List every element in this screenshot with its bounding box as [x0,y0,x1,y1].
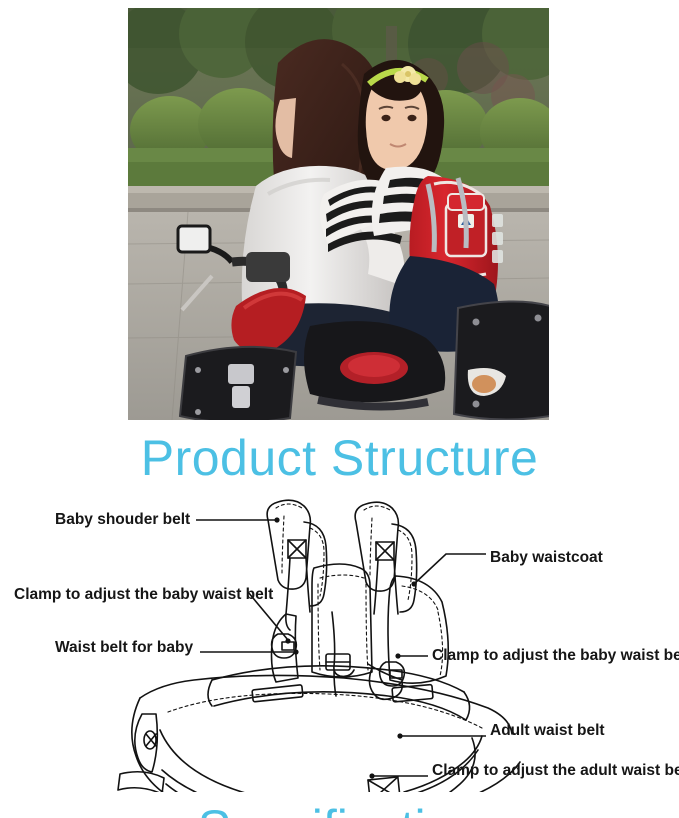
next-section-title: Specification [0,798,679,818]
product-photo-illustration [128,8,549,420]
callout-clamp-baby-waist-belt-right: Clamp to adjust the baby waist belt [432,647,679,665]
callout-adult-waist-belt: Adult waist belt [490,722,605,740]
callout-baby-shoulder-belt: Baby shouder belt [55,511,190,529]
page-title: Product Structure [0,428,679,488]
product-photo [128,8,549,420]
callout-waist-belt-for-baby: Waist belt for baby [55,639,193,657]
callout-clamp-adult-waist-belt: Clamp to adjust the adult waist belt [432,762,679,780]
callout-clamp-baby-waist-belt-left: Clamp to adjust the baby waist belt [14,586,273,604]
callout-baby-waistcoat: Baby waistcoat [490,549,603,567]
